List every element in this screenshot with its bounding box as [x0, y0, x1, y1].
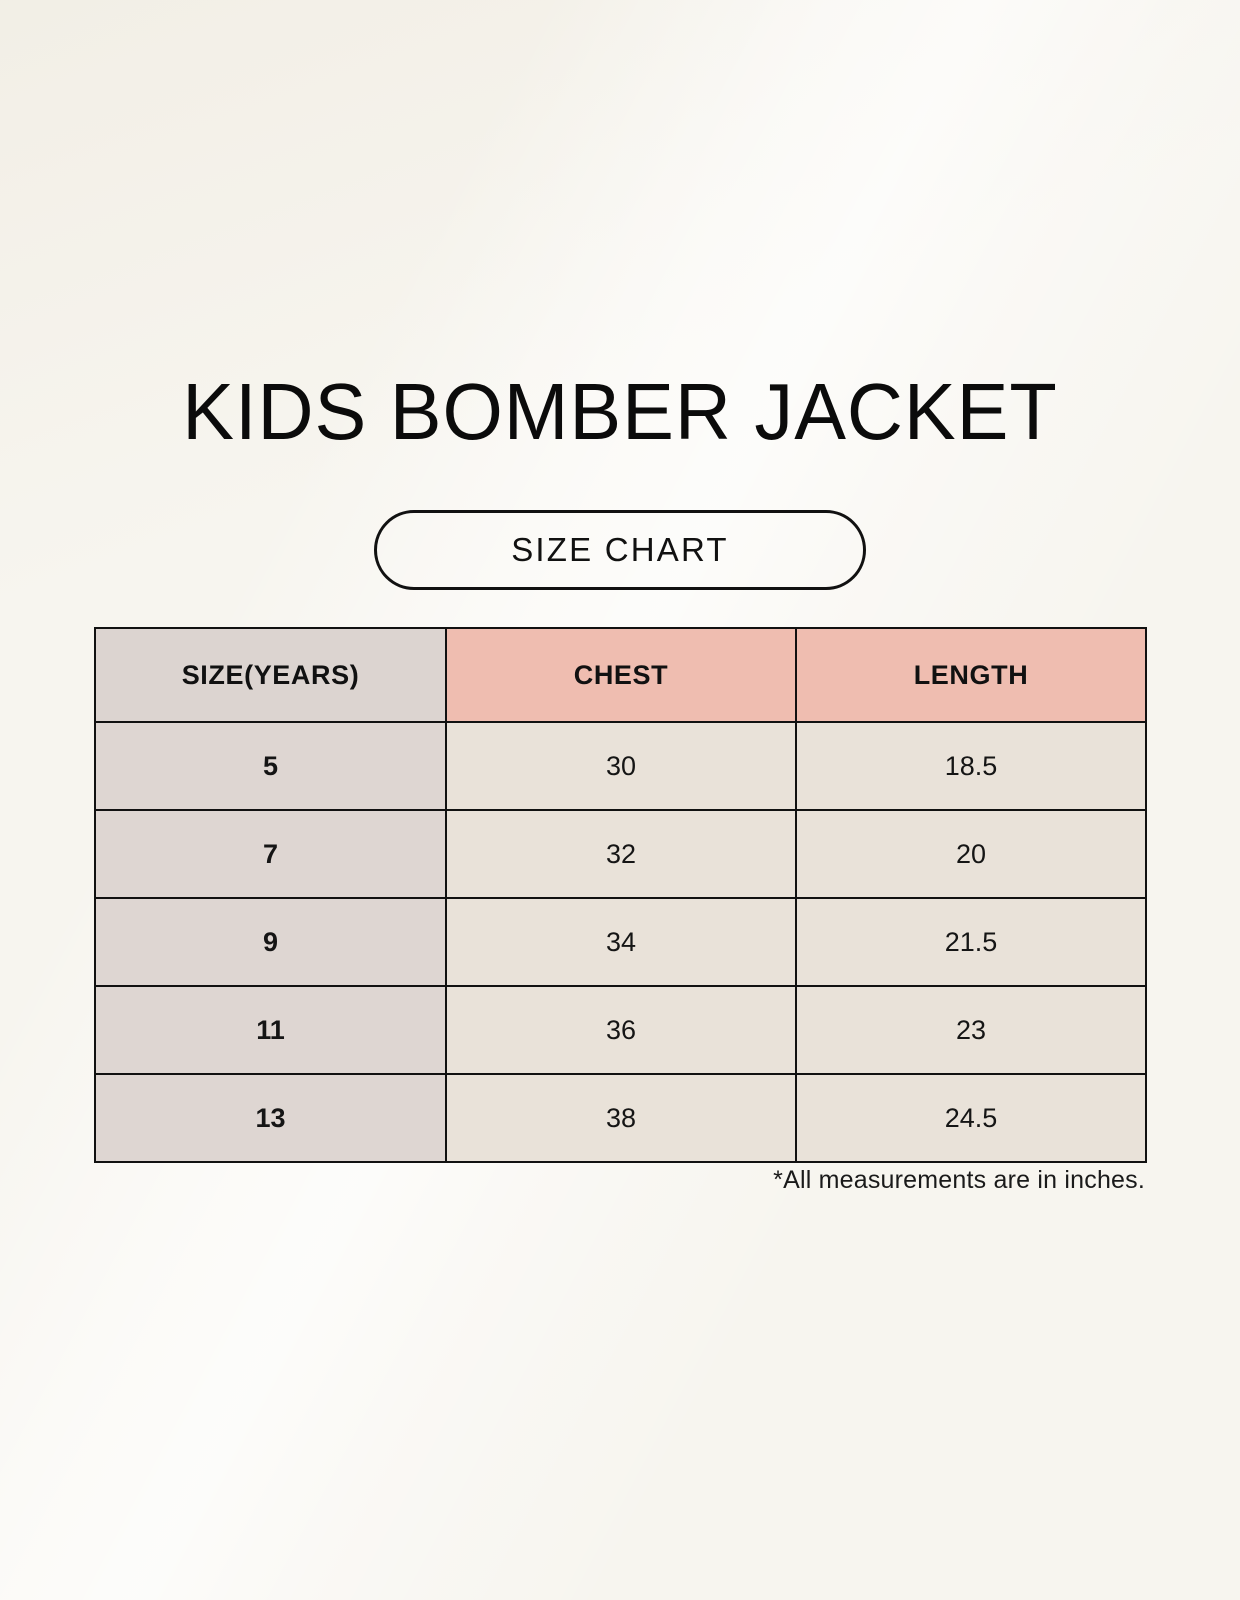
cell-chest: 36 [446, 986, 796, 1074]
column-header-size: SIZE(YEARS) [95, 628, 446, 722]
table-body: 5 30 18.5 7 32 20 9 34 21.5 11 36 23 [95, 722, 1146, 1162]
table-row: 5 30 18.5 [95, 722, 1146, 810]
page-title: KIDS BOMBER JACKET [19, 372, 1222, 452]
table-header: SIZE(YEARS) CHEST LENGTH [95, 628, 1146, 722]
cell-size: 5 [95, 722, 446, 810]
table-row: 11 36 23 [95, 986, 1146, 1074]
cell-size: 9 [95, 898, 446, 986]
size-chart-page: KIDS BOMBER JACKET SIZE CHART SIZE(YEARS… [0, 0, 1240, 1600]
cell-size: 7 [95, 810, 446, 898]
cell-size: 11 [95, 986, 446, 1074]
cell-chest: 30 [446, 722, 796, 810]
size-chart-badge-label: SIZE CHART [511, 531, 729, 569]
measurements-footnote: *All measurements are in inches. [94, 1166, 1145, 1195]
cell-length: 20 [796, 810, 1146, 898]
column-header-chest: CHEST [446, 628, 796, 722]
table-row: 13 38 24.5 [95, 1074, 1146, 1162]
cell-length: 21.5 [796, 898, 1146, 986]
cell-chest: 32 [446, 810, 796, 898]
cell-chest: 38 [446, 1074, 796, 1162]
table-row: 9 34 21.5 [95, 898, 1146, 986]
cell-length: 24.5 [796, 1074, 1146, 1162]
cell-length: 18.5 [796, 722, 1146, 810]
size-chart-table-container: SIZE(YEARS) CHEST LENGTH 5 30 18.5 7 32 … [94, 627, 1145, 1163]
cell-size: 13 [95, 1074, 446, 1162]
table-row: 7 32 20 [95, 810, 1146, 898]
column-header-length: LENGTH [796, 628, 1146, 722]
subtitle-badge-container: SIZE CHART [0, 510, 1240, 590]
cell-length: 23 [796, 986, 1146, 1074]
table-header-row: SIZE(YEARS) CHEST LENGTH [95, 628, 1146, 722]
size-chart-table: SIZE(YEARS) CHEST LENGTH 5 30 18.5 7 32 … [94, 627, 1147, 1163]
cell-chest: 34 [446, 898, 796, 986]
size-chart-badge: SIZE CHART [374, 510, 866, 590]
